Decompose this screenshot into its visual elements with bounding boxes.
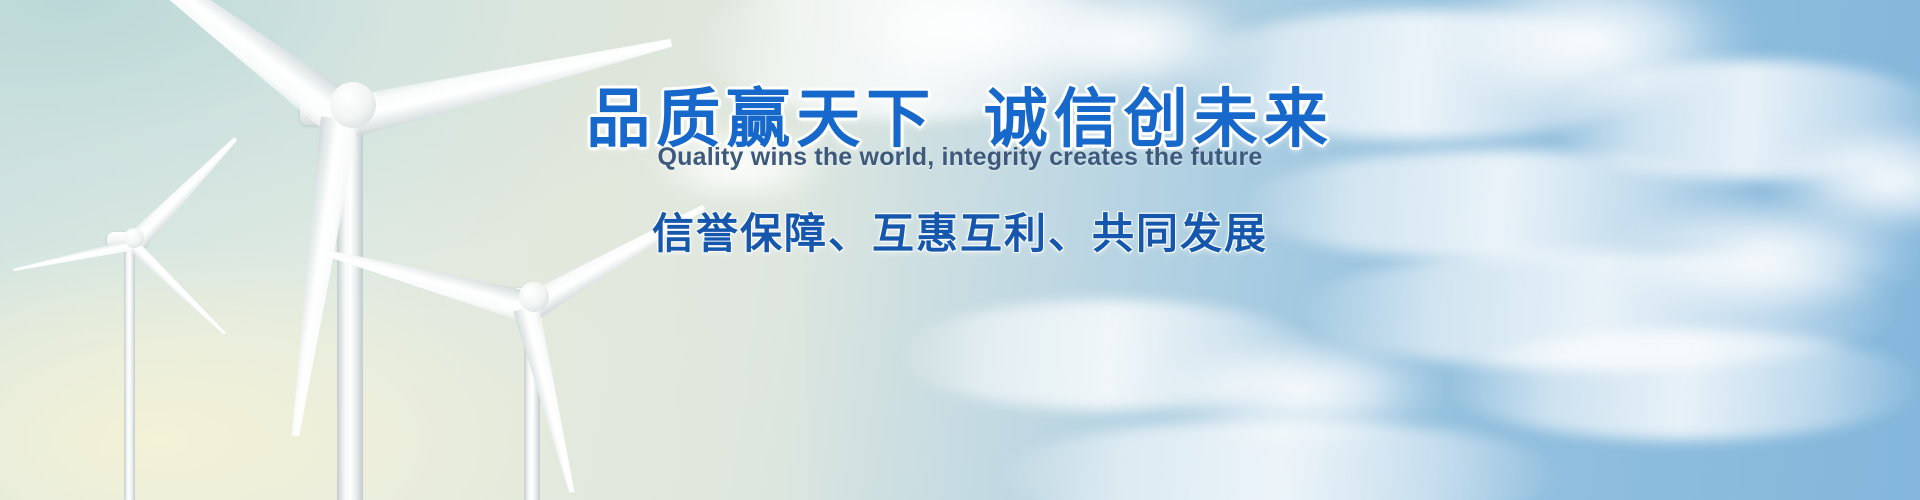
turbine-blade — [344, 18, 677, 141]
sky-blue-gradient — [806, 0, 1920, 500]
wind-turbine-mid — [400, 170, 820, 500]
turbine-blade — [510, 304, 587, 496]
turbine-hub — [330, 82, 376, 128]
promotional-banner: 品质赢天下 诚信创未来 Quality wins the world, inte… — [0, 0, 1920, 500]
turbine-blade — [523, 192, 713, 321]
turbine-mast — [124, 246, 135, 500]
turbine-hub — [519, 282, 549, 312]
